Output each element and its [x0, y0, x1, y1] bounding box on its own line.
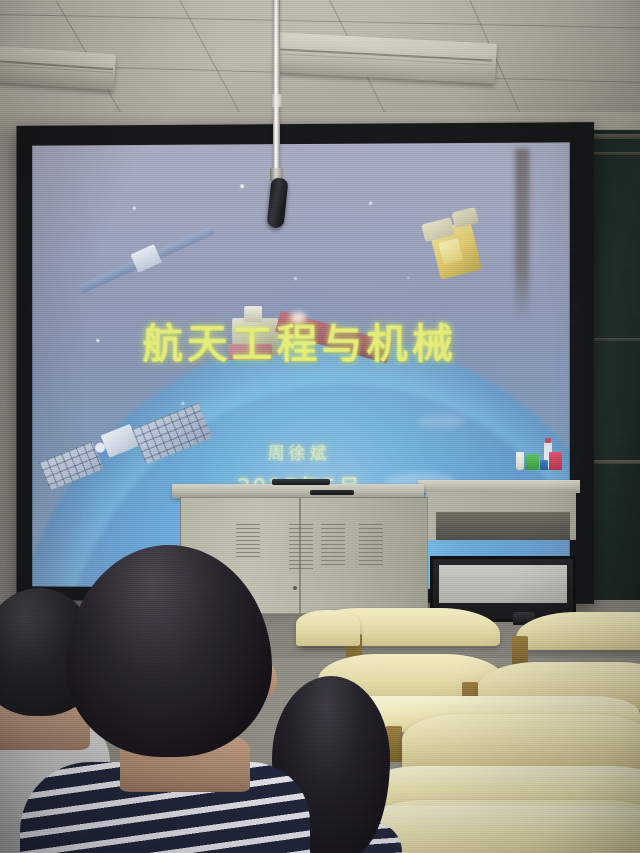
classroom-photo: ····· [0, 0, 640, 853]
red-box [549, 452, 562, 470]
water-bottle-cap [545, 438, 551, 443]
white-cup [516, 452, 524, 470]
ceiling-mic-pole [273, 0, 280, 176]
laptop-on-podium [272, 479, 330, 485]
satellite-upper-left-icon [72, 209, 226, 310]
blue-box [540, 460, 548, 470]
green-chalkboard [586, 130, 640, 600]
desk-row-3 [402, 714, 640, 770]
slide-title: 航天工程与机械 [32, 324, 570, 365]
screen-smudge [515, 149, 529, 320]
desk-row-1b [516, 612, 640, 650]
ceiling-light-left [0, 46, 116, 91]
laptop-keyboard [310, 490, 354, 495]
desk-row-1c [296, 610, 360, 646]
lectern-top [172, 484, 424, 498]
satellite-gold-icon [416, 203, 500, 288]
mic-pole-joint [271, 94, 282, 107]
back-cabinet-panel [439, 565, 567, 603]
side-table-shelf [436, 512, 570, 540]
green-box [525, 454, 539, 470]
slide-author: 周徐斌 [32, 439, 570, 465]
